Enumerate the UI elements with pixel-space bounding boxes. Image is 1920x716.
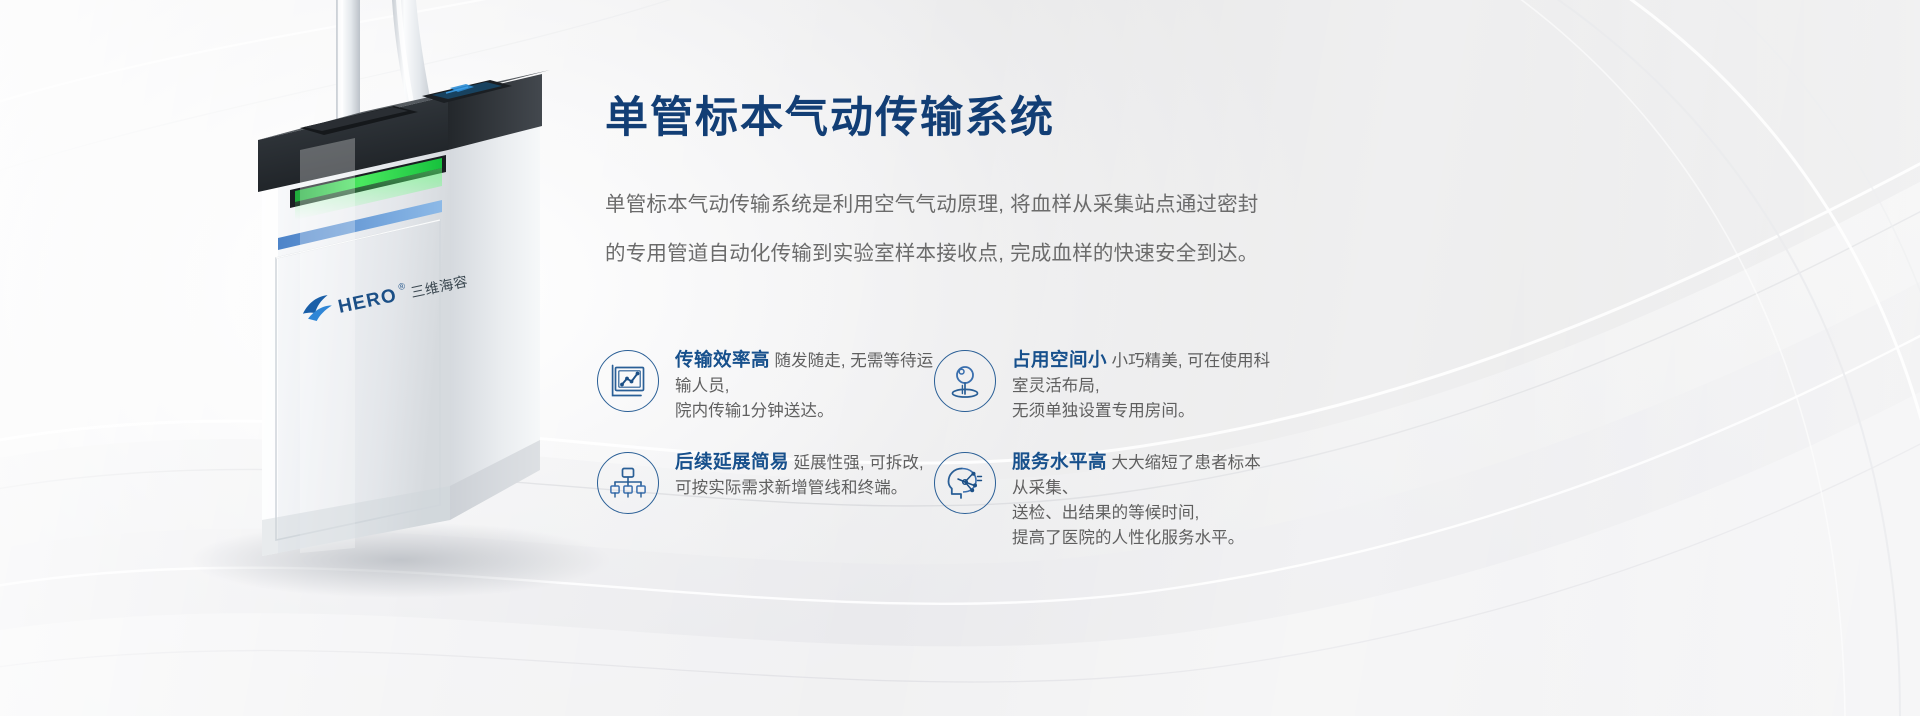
banner-content: 单管标本气动传输系统 单管标本气动传输系统是利用空气气动原理, 将血样从采集站点… xyxy=(605,92,1365,278)
hierarchy-tree-icon xyxy=(597,452,659,514)
page-description: 单管标本气动传输系统是利用空气气动原理, 将血样从采集站点通过密封的专用管道自动… xyxy=(605,180,1265,278)
feature-title: 占用空间小 xyxy=(1012,349,1107,370)
feature-item-service-level[interactable]: 服务水平高 大大缩短了患者标本从采集、 送检、出结果的等候时间, 提高了医院的人… xyxy=(934,447,1274,551)
smart-head-icon xyxy=(934,452,996,514)
page-title: 单管标本气动传输系统 xyxy=(605,92,1365,146)
space-pin-icon xyxy=(934,350,996,412)
feature-title: 传输效率高 xyxy=(675,349,770,370)
chart-trend-icon xyxy=(597,350,659,412)
feature-row-1: 传输效率高 随发随走, 无需等待运输人员, 院内传输1分钟送达。 占用空间小 xyxy=(597,345,1297,424)
feature-item-easy-extension[interactable]: 后续延展简易 延展性强, 可拆改, 可按实际需求新增管线和终端。 xyxy=(597,447,934,551)
product-shadow xyxy=(190,522,610,598)
feature-title: 服务水平高 xyxy=(1012,451,1107,472)
feature-list: 传输效率高 随发随走, 无需等待运输人员, 院内传输1分钟送达。 占用空间小 xyxy=(597,345,1297,551)
feature-item-space-saving[interactable]: 占用空间小 小巧精美, 可在使用科室灵活布局, 无须单独设置专用房间。 xyxy=(934,345,1274,424)
feature-item-transmission-efficiency[interactable]: 传输效率高 随发随走, 无需等待运输人员, 院内传输1分钟送达。 xyxy=(597,345,934,424)
product-banner: HERO ® 三维海容 单管标本气动传输系统 单管标本气动传输系统是利用空气气动… xyxy=(0,0,1920,716)
feature-title: 后续延展简易 xyxy=(675,451,789,472)
feature-row-2: 后续延展简易 延展性强, 可拆改, 可按实际需求新增管线和终端。 xyxy=(597,447,1297,551)
